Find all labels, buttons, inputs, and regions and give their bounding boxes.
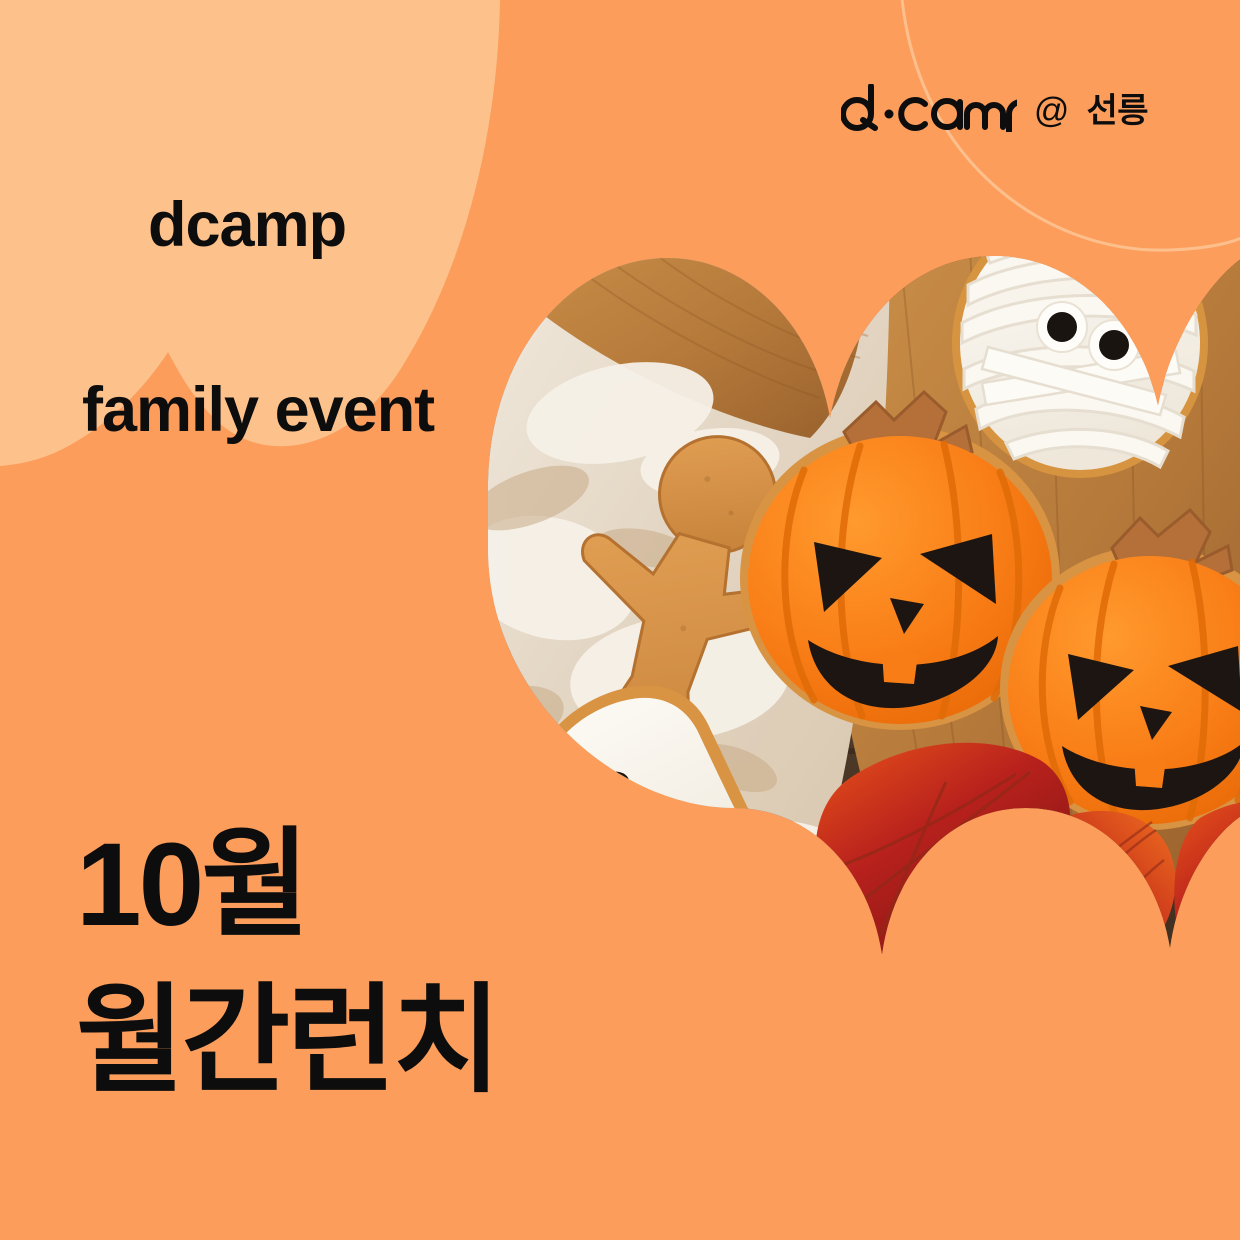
event-name: 월간런치 bbox=[76, 964, 498, 1120]
event-month: 10월 bbox=[76, 808, 498, 964]
headline-line-2: family event bbox=[82, 364, 434, 457]
event-title-korean: 10월 월간런치 bbox=[76, 808, 498, 1120]
dcamp-logo-icon[interactable] bbox=[841, 84, 1017, 137]
location-label: 선릉 bbox=[1086, 94, 1148, 128]
headline-line-1: dcamp bbox=[148, 190, 346, 260]
poster-canvas: dcamp family event @ 선릉 bbox=[0, 0, 1240, 1240]
page-title: dcamp family event bbox=[82, 86, 434, 642]
at-symbol: @ bbox=[1034, 93, 1070, 128]
brand-lockup[interactable]: @ 선릉 bbox=[841, 84, 1148, 137]
halloween-cookies-photo bbox=[470, 248, 1240, 1018]
